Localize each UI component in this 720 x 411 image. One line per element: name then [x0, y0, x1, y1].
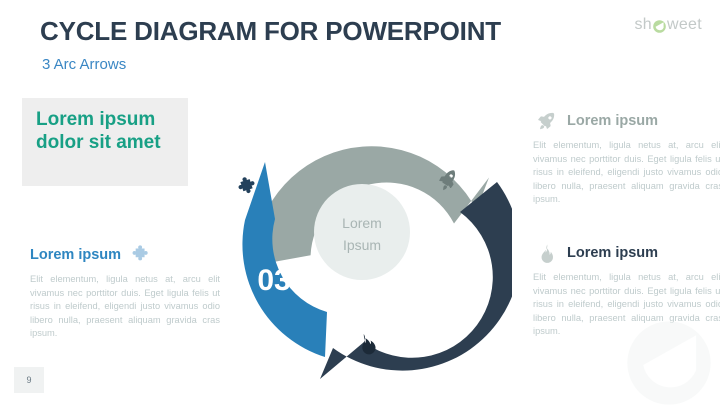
brand-suffix: weet: [667, 16, 702, 34]
block-heading-row-03: Lorem ipsum: [30, 242, 220, 268]
page-subtitle: 3 Arc Arrows: [42, 56, 126, 73]
watermark-leaf-icon: [626, 320, 712, 411]
cycle-center-line2: Ipsum: [343, 237, 381, 253]
content-block-03: Lorem ipsum Elit elementum, ligula netus…: [30, 242, 220, 341]
block-heading-02: Lorem ipsum: [567, 245, 658, 261]
brand-prefix: sh: [635, 16, 653, 34]
cycle-center-line1: Lorem: [342, 215, 382, 231]
page-title: CYCLE DIAGRAM FOR POWERPOINT: [40, 16, 501, 47]
brand-logo: sh weet: [635, 16, 703, 34]
callout-text: Lorem ipsum dolor sit amet: [36, 108, 176, 154]
leaf-icon: [653, 20, 666, 33]
cycle-diagram: 01 02 03: [212, 84, 512, 385]
callout-box: Lorem ipsum dolor sit amet: [22, 98, 188, 186]
block-heading-row-02: Lorem ipsum: [533, 240, 720, 266]
cycle-center-circle: [314, 184, 410, 280]
flame-icon: [533, 241, 559, 265]
cycle-number-02: 02: [435, 264, 468, 297]
page-number: 9: [14, 367, 44, 393]
rocket-icon: [533, 109, 559, 133]
block-heading-row-01: Lorem ipsum: [533, 108, 720, 134]
cycle-number-03: 03: [257, 264, 290, 297]
puzzle-icon: [236, 175, 257, 196]
block-heading-03: Lorem ipsum: [30, 247, 121, 263]
block-body-01: Elit elementum, ligula netus at, arcu el…: [533, 139, 720, 207]
content-block-01: Lorem ipsum Elit elementum, ligula netus…: [533, 108, 720, 207]
block-body-03: Elit elementum, ligula netus at, arcu el…: [30, 273, 220, 341]
puzzle-icon: [129, 243, 155, 267]
cycle-number-01: 01: [345, 104, 378, 137]
block-heading-01: Lorem ipsum: [567, 113, 658, 129]
